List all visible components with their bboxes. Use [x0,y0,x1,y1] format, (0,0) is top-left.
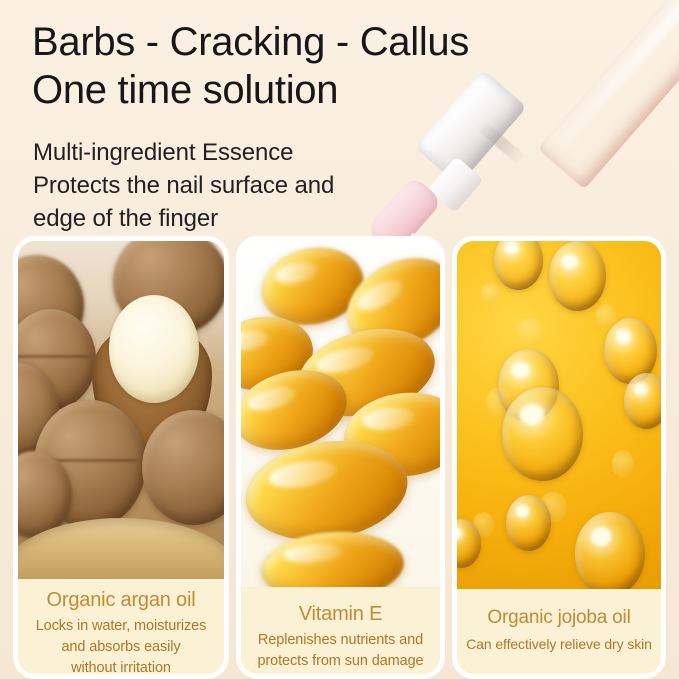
oil-bubble [494,241,543,290]
macadamia-nuts-photo [18,241,224,579]
subcopy-block: Multi-ingredient Essence Protects the na… [33,136,433,235]
oil-bubble [502,387,584,481]
nut-seam [18,355,89,358]
subcopy-line-3: edge of the finger [33,202,433,235]
product-advertisement-banner: care pen one Barbs - Cracking - Callus O… [0,0,679,679]
card-caption-jojoba-oil: Organic jojoba oil Can effectively relie… [457,589,661,674]
headline-line-2: One time solution [32,66,552,114]
card-body-line: Replenishes nutrients and [247,630,434,651]
card-body-line: Can effectively relieve dry skin [463,634,655,655]
softgels-scene [241,241,440,587]
oil-bubble [506,495,551,551]
card-caption-vitamin-e: Vitamin E Replenishes nutrients and prot… [241,587,440,674]
oil-bubbles-photo [457,241,661,589]
subcopy-line-2: Protects the nail surface and [33,169,433,202]
pen-barrel-gloss [554,0,679,152]
card-body-line: and absorbs easily [24,637,218,658]
subcopy-line-1: Multi-ingredient Essence [33,136,433,169]
card-body-line: Locks in water, moisturizes [24,616,218,637]
headline-line-1: Barbs - Cracking - Callus [32,18,552,66]
nut-kernel [109,295,200,403]
oil-bubble [549,241,606,311]
ingredient-card-jojoba-oil: Organic jojoba oil Can effectively relie… [452,236,666,679]
oil-bubble [575,512,644,589]
oil-bubble [624,373,661,429]
ingredient-card-vitamin-e: Vitamin E Replenishes nutrients and prot… [236,236,445,679]
pen-barrel: care pen one [538,0,679,189]
ingredient-cards-row: Organic argan oil Locks in water, moistu… [0,236,679,679]
nuts-scene [18,241,224,579]
ingredient-card-argan-oil: Organic argan oil Locks in water, moistu… [13,236,229,679]
card-body-line: without irritation [24,658,218,679]
card-body-line: protects from sun damage [247,651,434,672]
softgel-capsules-photo [241,241,440,587]
headline-block: Barbs - Cracking - Callus One time solut… [32,18,552,114]
oil-scene [457,241,661,589]
card-title: Organic jojoba oil [463,605,655,631]
card-title: Organic argan oil [24,587,218,613]
card-caption-argan-oil: Organic argan oil Locks in water, moistu… [18,579,224,674]
card-title: Vitamin E [247,601,434,627]
